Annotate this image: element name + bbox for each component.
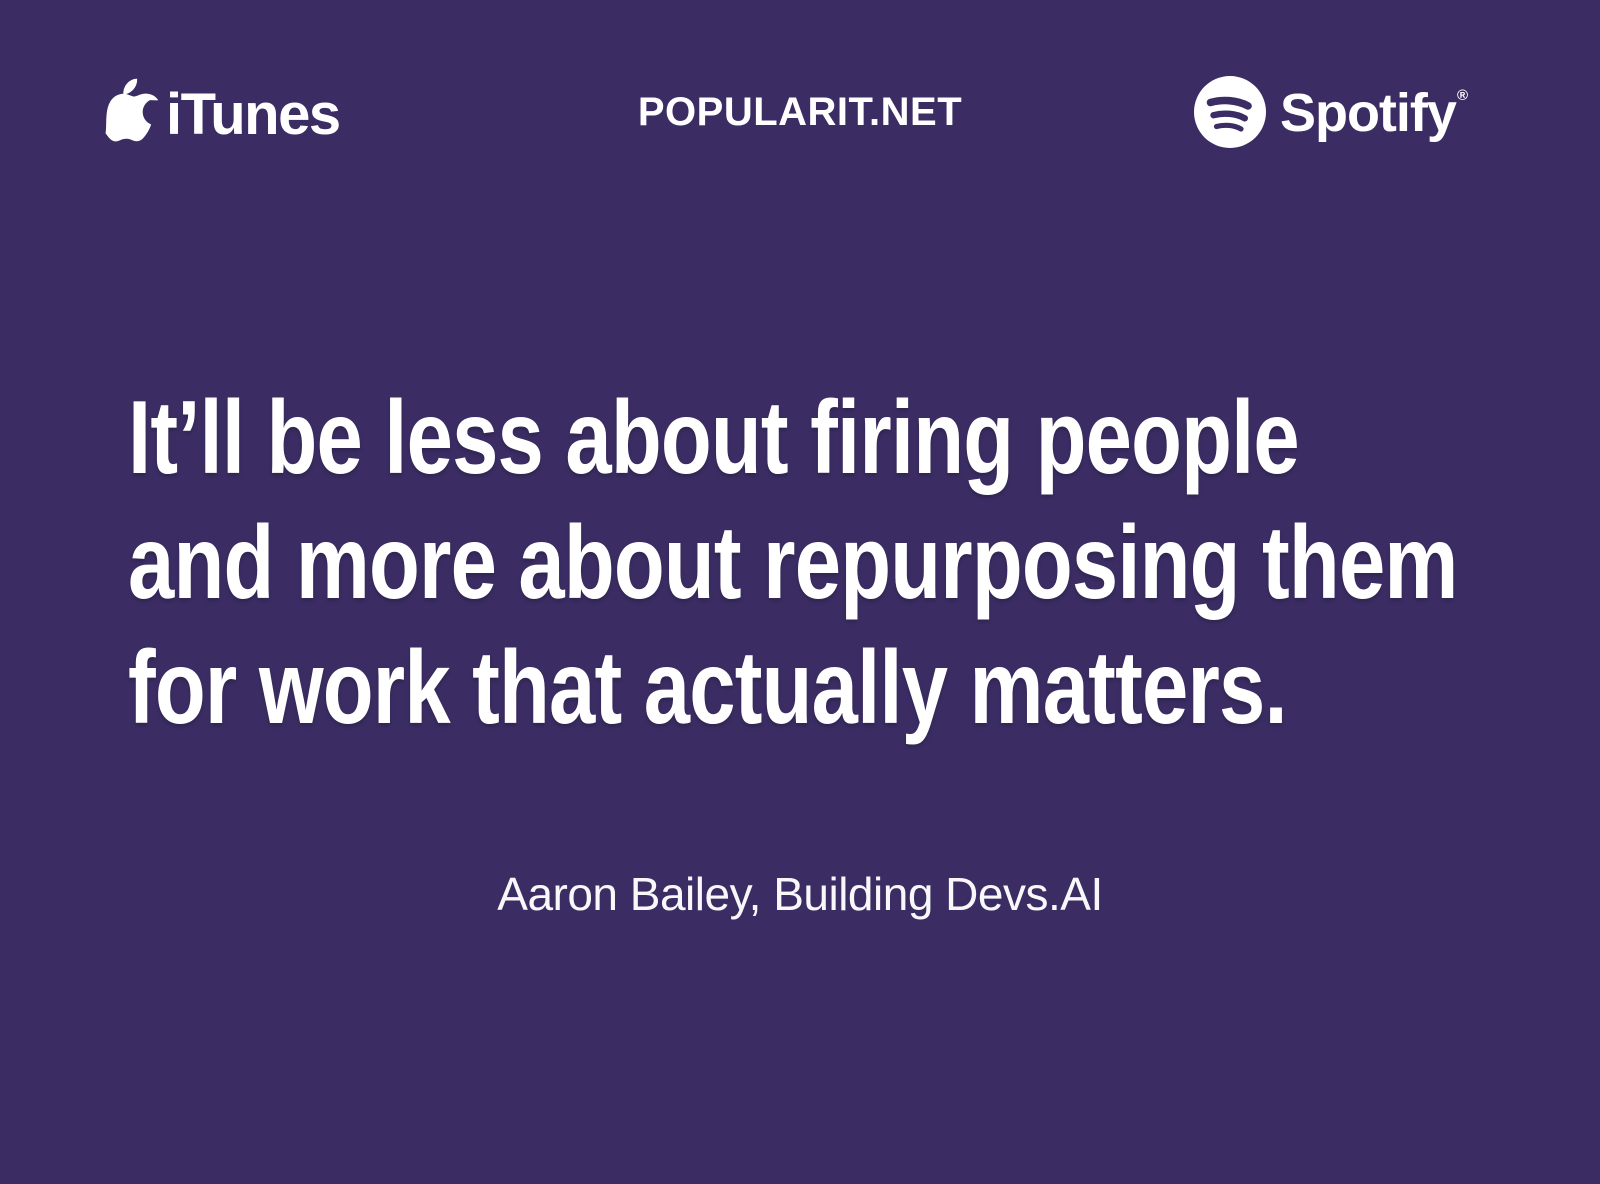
quote-card: iTunes POPULARIT.NET Spotify® It’ll be l… [0,0,1600,1184]
spotify-wordmark-text: Spotify [1280,83,1456,143]
spotify-wordmark: Spotify® [1280,86,1466,140]
brand-spotify[interactable]: Spotify® [1194,62,1466,162]
spotify-logo-icon [1194,76,1266,148]
registered-trademark-icon: ® [1457,87,1467,104]
quote-text: It’ll be less about firing people and mo… [128,376,1468,751]
quote-attribution: Aaron Bailey, Building Devs.AI [0,866,1600,922]
quote-line: It’ll be less about firing people [128,376,1200,501]
header-bar: iTunes POPULARIT.NET Spotify® [0,62,1600,162]
quote-line: and more about repurposing them [128,501,1200,626]
quote-line: for work that actually matters. [128,626,1200,751]
